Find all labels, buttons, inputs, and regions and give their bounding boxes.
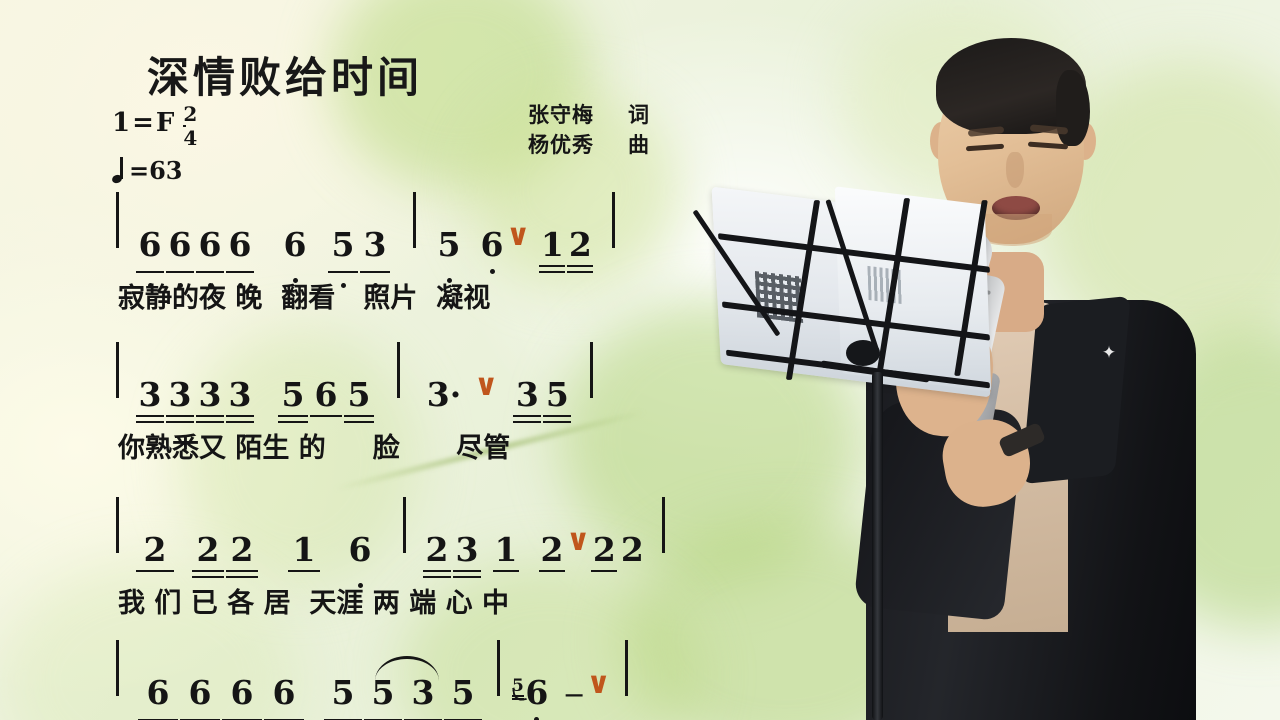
note: 3 xyxy=(135,378,165,412)
note: 1 xyxy=(492,533,520,567)
notes-row: 3 3 3 3 5 6 5 3· ∨ 3 xyxy=(0,340,700,412)
note: 3 xyxy=(452,533,482,567)
note: 3 xyxy=(225,378,255,412)
note: 6 xyxy=(279,228,311,262)
note: 3 xyxy=(165,378,195,412)
quarter-note-icon xyxy=(112,159,125,183)
note: 2 xyxy=(225,533,259,567)
key-value: F xyxy=(156,108,174,138)
composer-role: 曲 xyxy=(628,130,649,160)
note: 5 xyxy=(363,676,403,710)
beam-group: 5 6 5 xyxy=(277,378,375,412)
time-signature-numerator: 2 xyxy=(183,104,197,124)
note: 5 xyxy=(542,378,572,412)
beam-group: 6 6 6 6 xyxy=(137,676,305,710)
note: 6 xyxy=(309,378,343,412)
credit-row: 杨优秀 曲 xyxy=(528,130,649,160)
note: 1 xyxy=(538,228,566,262)
note: 6 xyxy=(137,676,179,710)
note: 3 xyxy=(403,676,443,710)
note: 3 xyxy=(195,378,225,412)
tempo-equals: = xyxy=(129,156,149,185)
barline xyxy=(497,640,500,696)
performer: ✦ xyxy=(700,0,1280,720)
barline xyxy=(612,192,615,248)
breath-mark: ∨ xyxy=(586,674,610,694)
barline xyxy=(590,342,593,398)
note: 5 xyxy=(277,378,309,412)
lyrics-line: 你熟悉又 陌生 的 脸 尽管 xyxy=(0,426,700,465)
breath-mark: ∨ xyxy=(474,376,498,396)
note: 2 xyxy=(590,533,618,567)
note: 5 xyxy=(434,228,464,262)
lyricist-role: 词 xyxy=(628,100,649,130)
note: 6 xyxy=(195,228,225,262)
note: 6 xyxy=(343,533,377,567)
note: 6 xyxy=(221,676,263,710)
beam-group: 5 5 3 5 xyxy=(323,676,483,710)
lapel-pin-icon: ✦ xyxy=(1100,344,1118,362)
grace-note: 5 6 xyxy=(512,676,550,710)
barline xyxy=(397,342,400,398)
beam-group: 6 5 3 xyxy=(279,228,391,262)
barline xyxy=(116,497,119,553)
note: 6 xyxy=(263,676,305,710)
nose xyxy=(1006,152,1024,188)
key-and-tempo-block: 1 = F 2 4 = 63 xyxy=(112,108,197,185)
note: 1 xyxy=(287,533,321,567)
credits-block: 张守梅 词 杨优秀 曲 xyxy=(528,100,649,161)
music-stand-knob xyxy=(846,340,880,366)
note: 2 xyxy=(422,533,452,567)
note: 6 xyxy=(179,676,221,710)
note: 5 xyxy=(343,378,375,412)
note: 5 xyxy=(443,676,483,710)
beam-group: 3 5 xyxy=(512,378,572,412)
note: 5 xyxy=(327,228,359,262)
key-label: 1 xyxy=(112,108,130,138)
note: 2 xyxy=(191,533,225,567)
score-line: 6 6 6 6 6 5 3 5 6 ∨ xyxy=(0,190,700,315)
barline xyxy=(413,192,416,248)
lyricist-name: 张守梅 xyxy=(528,100,614,130)
lyrics-line: 寂静的夜 晚 翻看 照片 凝视 xyxy=(0,276,700,315)
key-equals: = xyxy=(132,108,154,138)
breath-mark: ∨ xyxy=(566,531,590,551)
beam-group: 3 3 3 3 xyxy=(135,378,255,412)
barline xyxy=(116,640,119,696)
barline xyxy=(662,497,665,553)
notes-row: 6 6 6 6 6 5 3 5 6 ∨ xyxy=(0,190,700,262)
credit-row: 张守梅 词 xyxy=(528,100,649,130)
lyrics-line: 我 们 已 各 居 天涯 两 端 心 中 xyxy=(0,581,700,620)
barline xyxy=(116,342,119,398)
beam-group: 2 2 xyxy=(590,533,646,567)
barline xyxy=(403,497,406,553)
barline xyxy=(625,640,628,696)
note: 2 xyxy=(538,533,566,567)
key-signature: 1 = F 2 4 xyxy=(112,108,197,152)
page-title: 深情败给时间 xyxy=(0,44,700,105)
note: 6 xyxy=(225,228,255,262)
note: 5 xyxy=(323,676,363,710)
barline xyxy=(116,192,119,248)
note: 6 xyxy=(524,676,550,710)
time-signature: 2 4 xyxy=(183,104,197,148)
breath-mark: ∨ xyxy=(506,226,530,246)
beam-group: 2 2 2 xyxy=(135,533,259,567)
notes-row: 6 6 6 6 5 5 3 5 5 xyxy=(0,638,700,710)
note: 6 xyxy=(478,228,506,262)
video-frame: 深情败给时间 1 = F 2 4 = 63 张守梅 词 xyxy=(0,0,1280,720)
note: 3 xyxy=(359,228,391,262)
beam-group: 2 3 1 xyxy=(422,533,520,567)
beam-group: 1 6 xyxy=(287,533,377,567)
score-line: 3 3 3 3 5 6 5 3· ∨ 3 xyxy=(0,340,700,465)
note-dotted: 3· xyxy=(422,378,466,412)
note: 3 xyxy=(512,378,542,412)
score-line: 2 2 2 1 6 2 3 1 xyxy=(0,495,700,620)
sustain-dash: – xyxy=(562,676,587,710)
score-line: 6 6 6 6 5 5 3 5 5 xyxy=(0,638,700,710)
music-stand-pole xyxy=(872,372,883,720)
notes-row: 2 2 2 1 6 2 3 1 xyxy=(0,495,700,567)
tempo-bpm: 63 xyxy=(149,156,182,185)
note: 2 xyxy=(135,533,175,567)
note: 6 xyxy=(165,228,195,262)
time-signature-denominator: 4 xyxy=(183,128,197,148)
tempo-marking: = 63 xyxy=(112,156,197,185)
note: 2 xyxy=(566,228,594,262)
score-panel: 深情败给时间 1 = F 2 4 = 63 张守梅 词 xyxy=(0,0,700,720)
note: 6 xyxy=(135,228,165,262)
note: 2 xyxy=(618,533,646,567)
composer-name: 杨优秀 xyxy=(528,130,614,160)
beam-group: 6 6 6 6 xyxy=(135,228,255,262)
beam-group: 1 2 xyxy=(538,228,594,262)
